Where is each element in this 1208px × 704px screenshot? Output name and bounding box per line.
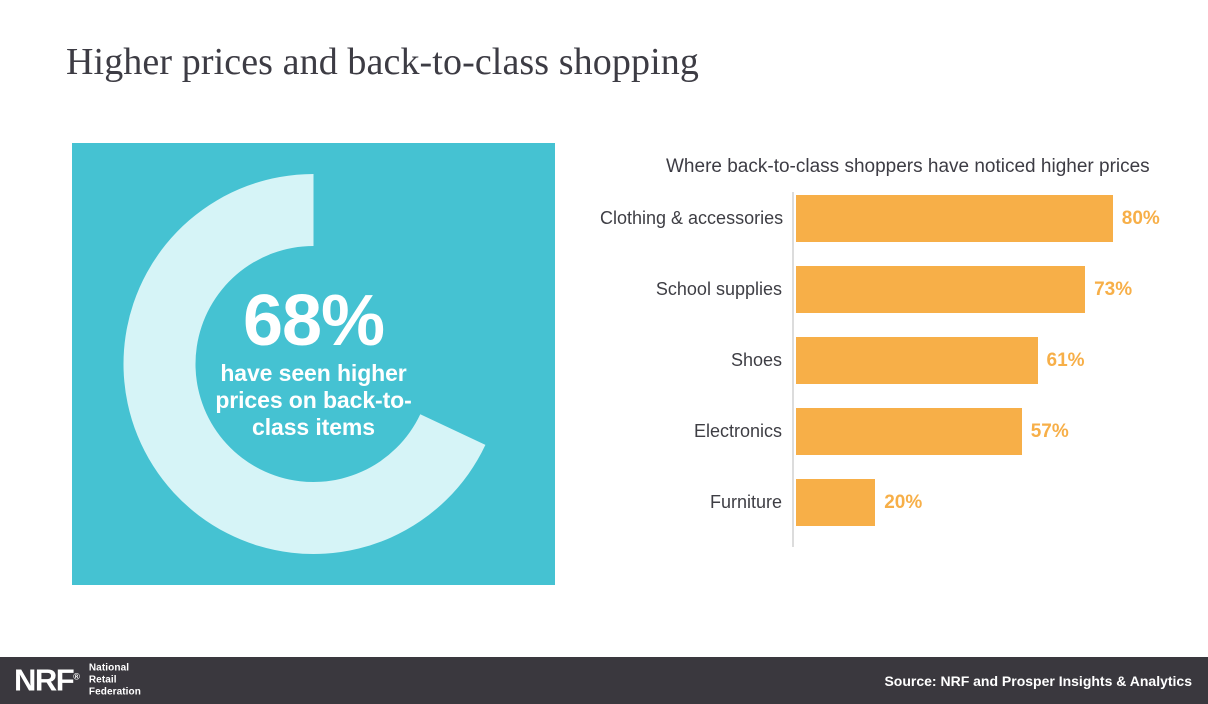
bar-track: 61% bbox=[796, 337, 1085, 384]
bar-category-label: Shoes bbox=[600, 350, 782, 371]
nrf-logo-mark: NRF® bbox=[14, 665, 80, 696]
bar-fill bbox=[796, 266, 1085, 313]
bar-track: 73% bbox=[796, 266, 1132, 313]
bar-value-label: 20% bbox=[884, 492, 922, 514]
chart-subtitle: Where back-to-class shoppers have notice… bbox=[666, 156, 1150, 178]
bar-value-label: 57% bbox=[1031, 421, 1069, 443]
bar-track: 20% bbox=[796, 479, 922, 526]
bar-value-label: 61% bbox=[1047, 350, 1085, 372]
donut-arc-segment bbox=[123, 174, 485, 554]
bar-value-label: 80% bbox=[1122, 208, 1160, 230]
footer-bar: NRF® National Retail Federation Source: … bbox=[0, 657, 1208, 704]
bar-chart-section: Where back-to-class shoppers have notice… bbox=[600, 143, 1190, 585]
bar-category-label: Clothing & accessories bbox=[600, 208, 782, 229]
bar-category-label: Furniture bbox=[600, 492, 782, 513]
page-title: Higher prices and back-to-class shopping bbox=[66, 40, 699, 84]
source-note: Source: NRF and Prosper Insights & Analy… bbox=[884, 673, 1192, 689]
nrf-logo-line-2: Retail bbox=[89, 674, 141, 686]
nrf-logo-line-1: National bbox=[89, 662, 141, 674]
bar-category-label: School supplies bbox=[600, 279, 782, 300]
nrf-logo-letters: NRF bbox=[14, 663, 73, 698]
nrf-logo-line-3: Federation bbox=[89, 687, 141, 699]
donut-panel: 68% have seen higher prices on back-to-c… bbox=[72, 143, 555, 585]
bar-category-label: Electronics bbox=[600, 421, 782, 442]
bar-track: 57% bbox=[796, 408, 1069, 455]
bar-fill bbox=[796, 337, 1038, 384]
bar-row: Furniture20% bbox=[600, 479, 1190, 526]
bar-chart-plot: Clothing & accessories80%School supplies… bbox=[600, 192, 1190, 547]
bar-row-list: Clothing & accessories80%School supplies… bbox=[600, 192, 1190, 547]
donut-chart bbox=[72, 143, 555, 585]
bar-row: Clothing & accessories80% bbox=[600, 195, 1190, 242]
nrf-logo-wordmark: National Retail Federation bbox=[89, 662, 141, 699]
bar-row: Shoes61% bbox=[600, 337, 1190, 384]
bar-value-label: 73% bbox=[1094, 279, 1132, 301]
bar-fill bbox=[796, 195, 1113, 242]
registered-trademark-icon: ® bbox=[73, 672, 80, 682]
nrf-logo: NRF® National Retail Federation bbox=[14, 662, 141, 699]
bar-row: School supplies73% bbox=[600, 266, 1190, 313]
bar-row: Electronics57% bbox=[600, 408, 1190, 455]
bar-fill bbox=[796, 479, 875, 526]
bar-track: 80% bbox=[796, 195, 1160, 242]
bar-fill bbox=[796, 408, 1022, 455]
